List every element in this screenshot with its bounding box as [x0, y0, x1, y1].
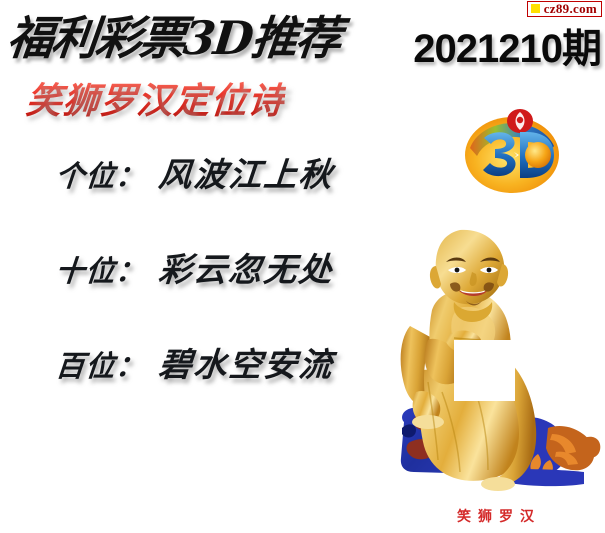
position-colon: ：	[114, 153, 161, 195]
page-title: 福利彩票3D推荐	[5, 2, 344, 68]
position-phrase: 风波江上秋	[157, 148, 336, 196]
position-label: 十位	[54, 248, 118, 290]
site-watermark: cz89.com	[527, 1, 602, 17]
position-label: 百位	[54, 343, 118, 385]
position-colon: ：	[114, 343, 161, 385]
poem-row: 个位 ： 风波江上秋	[54, 148, 336, 196]
position-colon: ：	[114, 248, 161, 290]
watermark-text: cz89.com	[544, 2, 597, 15]
lottery-recommendation-poster: cz89.com 福利彩票3D推荐 2021210期 笑狮罗汉定位诗 个位 ： …	[0, 0, 605, 533]
logo-ball	[525, 142, 551, 168]
position-label: 个位	[54, 153, 118, 195]
poem-row: 百位 ： 碧水空安流	[54, 338, 336, 386]
3d-lottery-logo	[462, 100, 562, 195]
issue-number: 2021210期	[413, 16, 601, 74]
yellow-square-icon	[531, 4, 540, 13]
poem-subtitle: 笑狮罗汉定位诗	[24, 72, 288, 124]
poem-row: 十位 ： 彩云忽无处	[54, 243, 336, 291]
statue-caption: 笑狮罗汉	[388, 506, 603, 526]
position-phrase: 碧水空安流	[157, 338, 336, 386]
welfare-lottery-emblem	[507, 109, 533, 133]
position-phrase: 彩云忽无处	[157, 243, 336, 291]
white-occlusion-patch	[454, 340, 515, 401]
